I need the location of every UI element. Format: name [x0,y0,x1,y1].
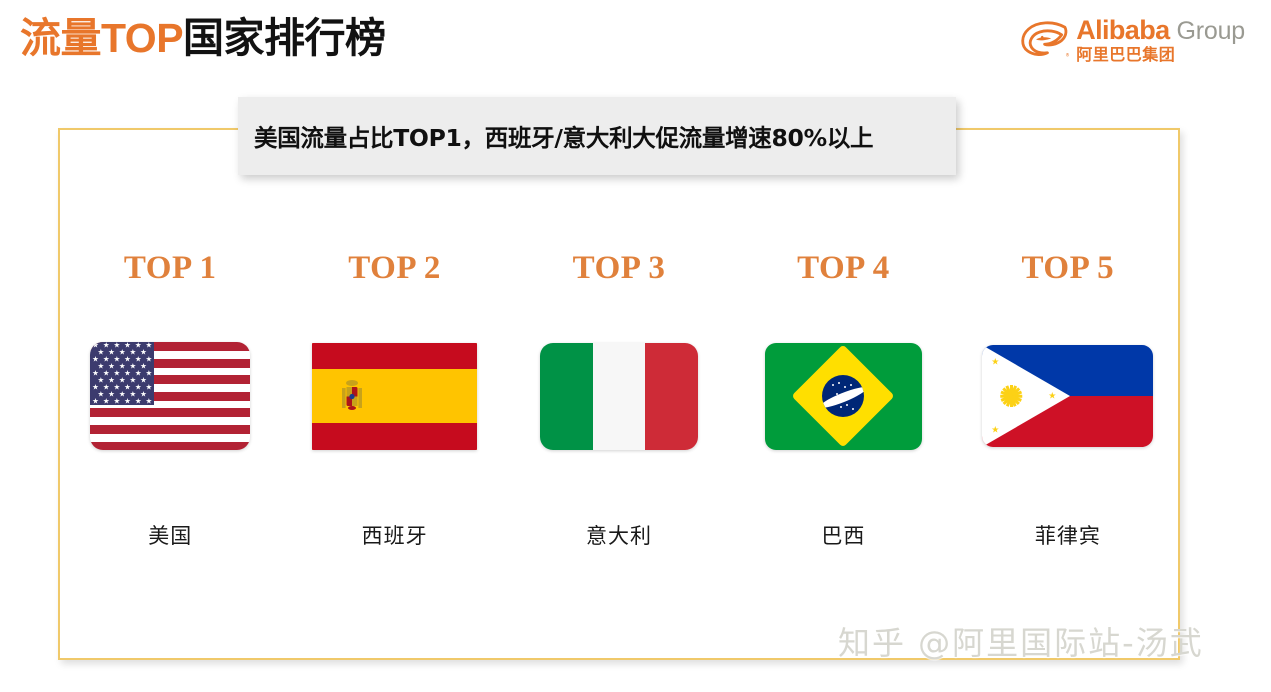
logo-text: Alibaba Group 阿里巴巴集团 [1076,17,1245,63]
rank-label-4: TOP 4 [797,250,890,287]
subtitle-text: 美国流量占比TOP1，西班牙/意大利大促流量增速80%以上 [254,119,873,153]
flag-cell: ★★★★★★★★★★★★★★★★★★★★★★★★★★★★★★★★★★★★★★★★… [58,336,282,456]
subtitle-banner: 美国流量占比TOP1，西班牙/意大利大促流量增速80%以上 [238,97,956,175]
country-cell: 巴西 [731,512,955,558]
brazil-star-icon [852,408,854,410]
svg-text:®: ® [1066,52,1070,59]
us-star-icon: ★ [103,398,110,406]
page-title-highlight: 流量TOP [20,15,183,61]
rank-cell: TOP 2 [282,238,506,298]
flag-philippines-icon: ★ ★ ★ [982,345,1153,447]
country-name-row: 美国 西班牙 意大利 巴西 菲律宾 [58,512,1180,558]
ph-star-icon: ★ [1048,392,1056,401]
flag-united-states-icon: ★★★★★★★★★★★★★★★★★★★★★★★★★★★★★★★★★★★★★★★★… [90,342,250,450]
logo-brand-name-cn: 阿里巴巴集团 [1076,47,1175,63]
us-stripe [90,408,250,417]
country-label-2: 西班牙 [362,520,428,550]
rank-label-3: TOP 3 [573,250,666,287]
brazil-star-icon [848,397,850,399]
rank-label-1: TOP 1 [124,250,217,287]
us-star-icon: ★ [113,398,120,406]
brazil-star-icon [850,384,852,386]
logo-brand-name: Alibaba [1076,17,1169,44]
brazil-star-icon [842,395,844,397]
rank-label-row: TOP 1 TOP 2 TOP 3 TOP 4 TOP 5 [58,238,1180,298]
rank-cell: TOP 1 [58,238,282,298]
rank-cell: TOP 4 [731,238,955,298]
us-star-icon: ★ [124,398,131,406]
country-label-3: 意大利 [586,520,652,550]
country-cell: 美国 [58,512,282,558]
brazil-star-icon [832,384,834,386]
country-label-4: 巴西 [821,520,865,550]
us-stripe [90,425,250,434]
page-header: 流量TOP国家排行榜 ® Alibaba Group 阿里巴巴集团 [0,0,1271,82]
brazil-star-icon [834,403,836,405]
ph-star-icon: ★ [991,426,999,435]
ph-star-icon: ★ [991,358,999,367]
flag-cell [731,336,955,456]
brazil-star-icon [855,389,857,391]
page-title: 流量TOP国家排行榜 [20,9,386,67]
brazil-star-icon [838,382,840,384]
logo-brand-suffix: Group [1177,19,1245,44]
flag-cell: ★ ★ ★ [956,336,1180,456]
us-star-icon: ★ [135,398,142,406]
us-star-icon: ★ [145,398,152,406]
flag-italy-icon [540,343,698,450]
rank-cell: TOP 5 [956,238,1180,298]
country-cell: 意大利 [507,512,731,558]
page-title-rest: 国家排行榜 [183,15,386,61]
flag-brazil-icon [765,343,922,450]
country-label-5: 菲律宾 [1035,520,1101,550]
country-cell: 菲律宾 [956,512,1180,558]
brazil-star-icon [840,406,842,408]
spain-coat-of-arms-icon [339,377,365,415]
rank-cell: TOP 3 [507,238,731,298]
rank-label-5: TOP 5 [1021,250,1114,287]
alibaba-logo-icon: ® [1020,19,1072,61]
flag-cell [282,336,506,456]
country-label-1: 美国 [148,520,192,550]
us-stripe [90,442,250,450]
flag-spain-icon [312,343,477,450]
brazil-star-icon [844,386,846,388]
us-star-icon: ★ [92,398,99,406]
brazil-star-icon [846,404,848,406]
country-cell: 西班牙 [282,512,506,558]
flag-cell [507,336,731,456]
brazil-star-icon [836,393,838,395]
alibaba-group-logo: ® Alibaba Group 阿里巴巴集团 [1020,14,1245,66]
flag-row: ★★★★★★★★★★★★★★★★★★★★★★★★★★★★★★★★★★★★★★★★… [58,336,1180,456]
rank-label-2: TOP 2 [348,250,441,287]
